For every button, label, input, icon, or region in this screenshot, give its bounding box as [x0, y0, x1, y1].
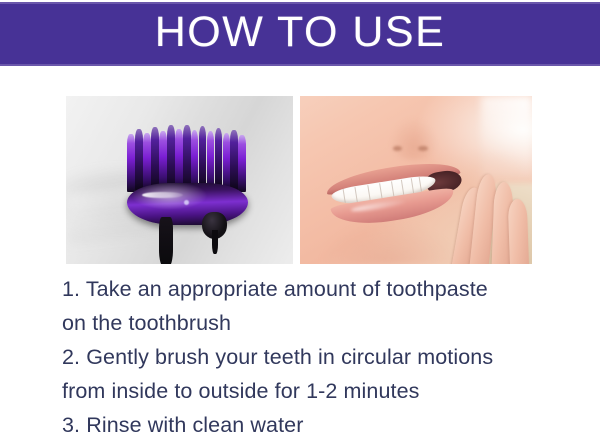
photo-background-light [481, 96, 532, 177]
finger [508, 199, 530, 264]
instruction-line-2: 2. Gently brush your teeth in circular m… [62, 340, 582, 374]
hand-on-cheek [458, 170, 528, 264]
page-title: HOW TO USE [155, 11, 446, 57]
toothbrush-photo [66, 96, 293, 264]
instruction-line-1-cont: on the toothbrush [62, 306, 582, 340]
instruction-line-1: 1. Take an appropriate amount of toothpa… [62, 272, 582, 306]
header-banner: HOW TO USE [0, 2, 600, 66]
instruction-list: 1. Take an appropriate amount of toothpa… [62, 272, 582, 442]
instruction-line-2-cont: from inside to outside for 1-2 minutes [62, 374, 582, 408]
brush-head-highlight [142, 192, 183, 199]
toothpaste-drip-tail [212, 230, 217, 254]
instruction-line-3: 3. Rinse with clean water [62, 408, 582, 442]
toothpaste-drip [159, 217, 173, 264]
smile-photo [300, 96, 532, 264]
nose [388, 116, 439, 160]
toothbrush-scene [66, 96, 293, 264]
smile-scene [300, 96, 532, 264]
brush-head [127, 183, 247, 225]
brush-bristles [127, 125, 247, 192]
photo-row [66, 96, 532, 264]
brush-head-speck [184, 200, 189, 205]
chin-shading [319, 220, 458, 264]
